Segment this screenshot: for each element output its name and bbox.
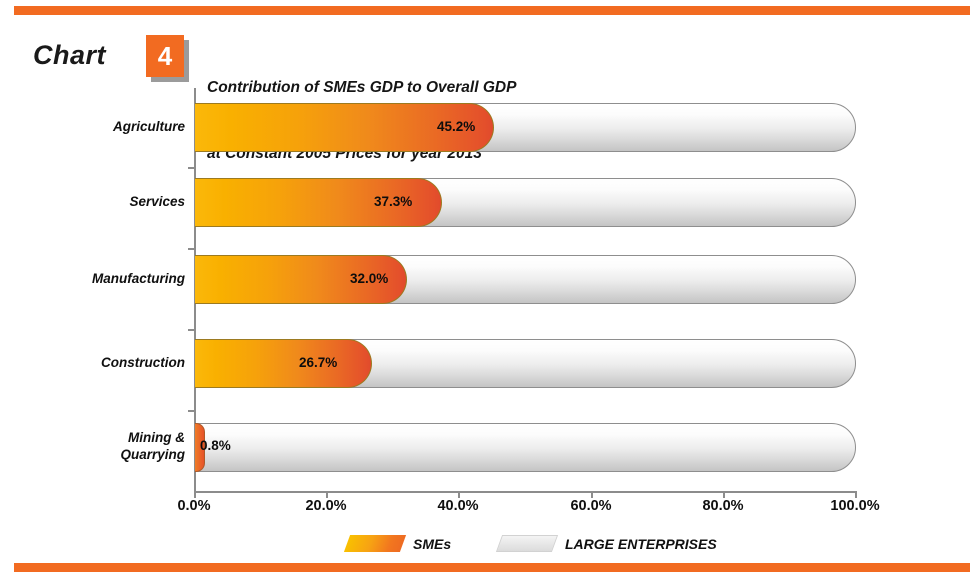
y-tick-2 [188,329,195,331]
x-tick-label-5: 100.0% [800,498,910,514]
bar-smes-construction [195,339,372,388]
smes-swatch-icon [344,535,406,552]
legend-label-large-enterprises: LARGE ENTERPRISES [565,536,717,552]
x-tick-label-1: 20.0% [271,498,381,514]
y-tick-0 [188,167,195,169]
category-label-services: Services [30,194,185,211]
legend-item-large-enterprises[interactable]: LARGE ENTERPRISES [499,535,717,552]
category-label-agriculture: Agriculture [30,119,185,136]
value-label-services: 37.3% [374,194,412,209]
category-label-manufacturing: Manufacturing [30,271,185,288]
x-tick-label-4: 80.0% [668,498,778,514]
x-tick-2 [458,491,460,498]
chart-page: Chart 4 Contribution of SMEs GDP to Over… [0,0,979,579]
x-tick-label-3: 60.0% [536,498,646,514]
value-label-manufacturing: 32.0% [350,271,388,286]
plot-area: Agriculture 45.2% Services 37.3% Manufac… [0,0,979,579]
value-label-agriculture: 45.2% [437,119,475,134]
value-label-construction: 26.7% [299,355,337,370]
x-tick-4 [723,491,725,498]
x-tick-label-2: 40.0% [403,498,513,514]
category-label-construction: Construction [30,355,185,372]
x-tick-label-0: 0.0% [139,498,249,514]
y-tick-3 [188,410,195,412]
x-tick-3 [591,491,593,498]
legend-item-smes[interactable]: SMEs [347,535,451,552]
large-enterprises-swatch-icon [496,535,558,552]
track-mining-quarrying [195,423,856,472]
x-axis-line [194,491,856,493]
chart-legend: SMEs LARGE ENTERPRISES [0,535,979,561]
x-tick-5 [855,491,857,498]
x-tick-0 [194,491,196,498]
x-tick-1 [326,491,328,498]
y-tick-1 [188,248,195,250]
legend-label-smes: SMEs [413,536,451,552]
category-label-mining-quarrying: Mining & Quarrying [30,430,185,464]
value-label-mining-quarrying: 0.8% [200,438,231,453]
